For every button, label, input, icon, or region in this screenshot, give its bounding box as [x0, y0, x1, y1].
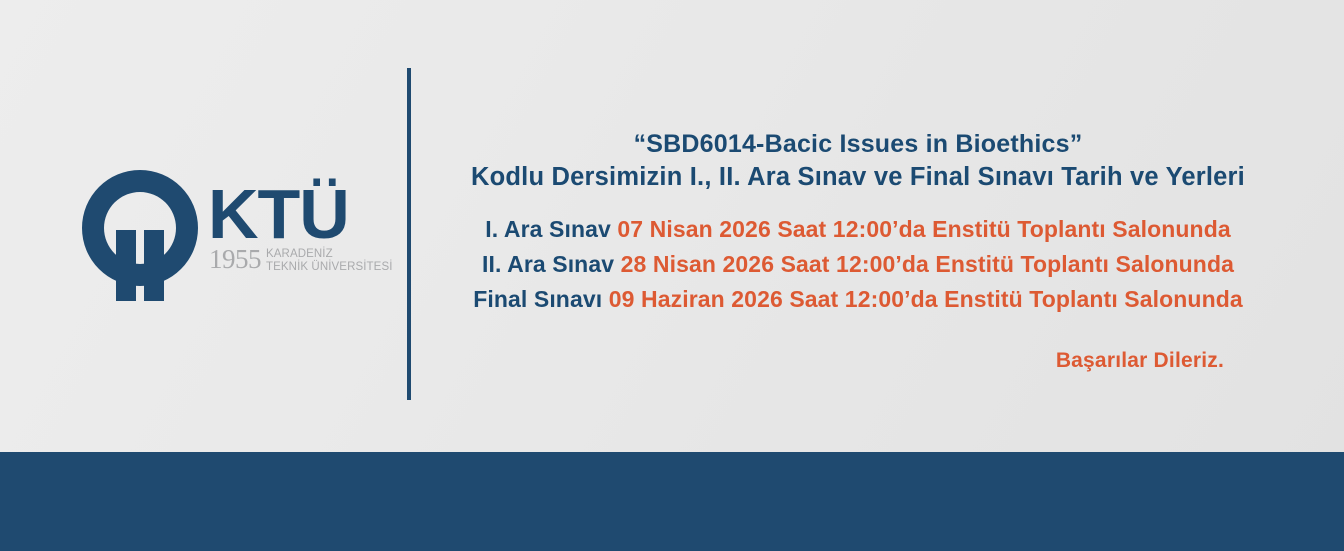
announcement-content: “SBD6014-Bacic Issues in Bioethics” Kodl… — [430, 128, 1286, 373]
announcement-subtitle: Kodlu Dersimizin I., II. Ara Sınav ve Fi… — [430, 160, 1286, 194]
ktu-wordmark: KTÜ — [208, 176, 388, 252]
logo-university-line-2: TEKNİK ÜNİVERSİTESİ — [266, 261, 393, 274]
bottom-navy-band — [0, 452, 1344, 551]
closing-wish: Başarılar Dileriz. — [1056, 349, 1224, 372]
announcement-banner: KTÜ 1955 KARADENİZ TEKNİK ÜNİVERSİTESİ “… — [0, 0, 1344, 551]
logo-founding-year: 1955 — [209, 246, 261, 273]
exam-details: 09 Haziran 2026 Saat 12:00’da Enstitü To… — [609, 286, 1243, 312]
course-title: “SBD6014-Bacic Issues in Bioethics” — [430, 128, 1286, 160]
exam-label: Final Sınavı — [473, 286, 602, 312]
exam-row: Final Sınavı 09 Haziran 2026 Saat 12:00’… — [430, 282, 1286, 317]
exam-row: II. Ara Sınav 28 Nisan 2026 Saat 12:00’d… — [430, 247, 1286, 282]
ktu-logo: KTÜ 1955 KARADENİZ TEKNİK ÜNİVERSİTESİ — [76, 160, 386, 310]
exam-label: II. Ara Sınav — [482, 251, 614, 277]
exam-label: I. Ara Sınav — [485, 216, 611, 242]
svg-text:KTÜ: KTÜ — [208, 176, 349, 252]
exam-schedule-list: I. Ara Sınav 07 Nisan 2026 Saat 12:00’da… — [430, 212, 1286, 317]
logo-university-name: KARADENİZ TEKNİK ÜNİVERSİTESİ — [266, 246, 393, 274]
logo-university-line-1: KARADENİZ — [266, 248, 393, 261]
vertical-divider — [407, 68, 411, 400]
ktu-letters-icon: KTÜ — [208, 176, 384, 252]
closing-wish-container: Başarılar Dileriz. — [430, 349, 1286, 373]
exam-row: I. Ara Sınav 07 Nisan 2026 Saat 12:00’da… — [430, 212, 1286, 247]
exam-details: 07 Nisan 2026 Saat 12:00’da Enstitü Topl… — [617, 216, 1230, 242]
ktu-ring-mark-icon — [76, 168, 204, 301]
exam-details: 28 Nisan 2026 Saat 12:00’da Enstitü Topl… — [621, 251, 1234, 277]
logo-subtitle: 1955 KARADENİZ TEKNİK ÜNİVERSİTESİ — [209, 246, 393, 274]
